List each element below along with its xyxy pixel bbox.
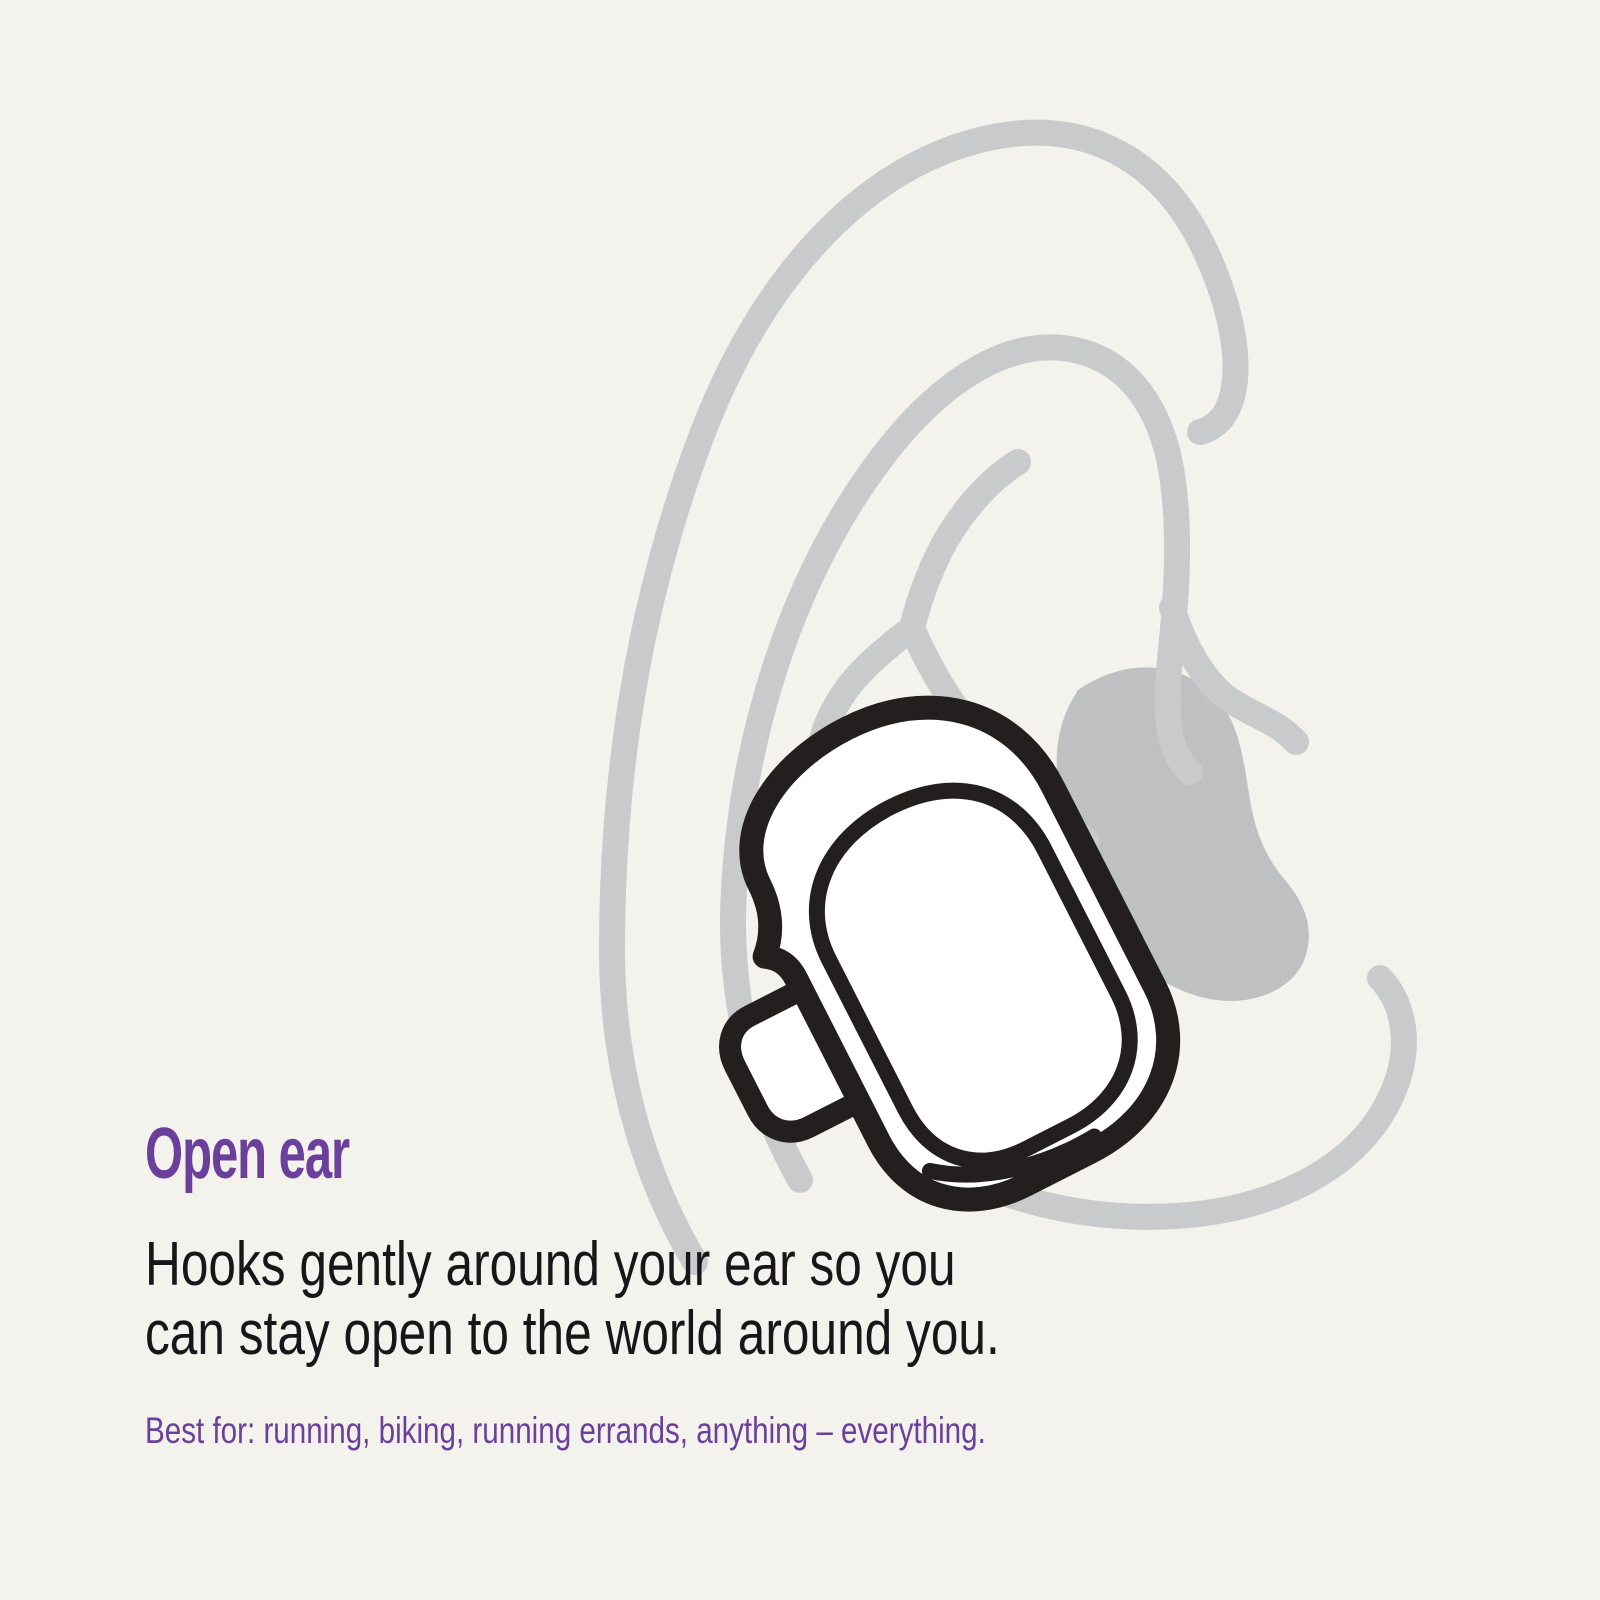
body-copy: Hooks gently around your ear so you can … — [145, 1190, 1185, 1369]
body-line-2: can stay open to the world around you. — [145, 1299, 1185, 1368]
page-title: Open ear — [145, 1118, 1029, 1190]
open-ear-card: Open ear Hooks gently around your ear so… — [0, 0, 1600, 1600]
ear-antihelix-upper-stroke — [912, 462, 1018, 628]
best-for-caption: Best for: running, biking, running erran… — [145, 1369, 1185, 1453]
text-block: Open ear Hooks gently around your ear so… — [145, 1118, 1445, 1453]
body-line-1: Hooks gently around your ear so you — [145, 1230, 1185, 1299]
